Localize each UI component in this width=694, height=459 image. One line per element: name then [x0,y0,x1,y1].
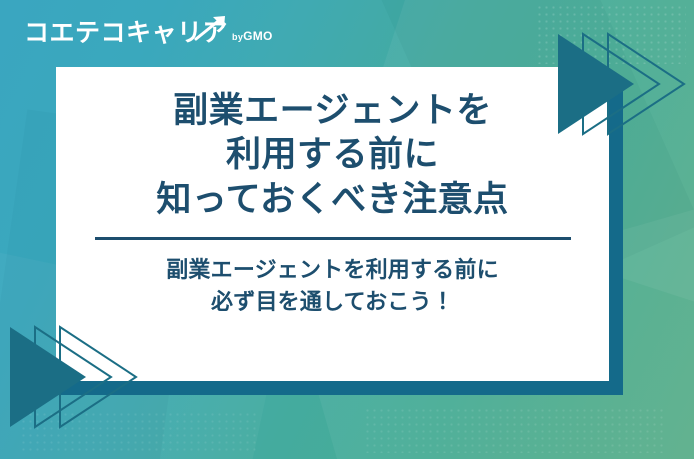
dot-pattern-bottom-right [364,407,664,453]
subtitle-line-1: 副業エージェントを利用する前に [166,255,499,286]
title-line-3: 知っておくべき注意点 [156,178,508,222]
page-subtitle: 副業エージェントを利用する前に 必ず目を通しておこう！ [166,255,499,317]
content-card: 副業エージェントを 利用する前に 知っておくべき注意点 副業エージェントを利用す… [56,67,609,381]
title-line-2: 利用する前に [156,133,508,177]
brand-logo: コエテコキャリア byGMO [24,20,273,45]
decor-triangles-bottom-left [8,321,138,433]
rising-arrow-icon [194,15,228,41]
page-title: 副業エージェントを 利用する前に 知っておくべき注意点 [156,89,508,222]
decor-triangles-top-right [556,28,686,140]
brand-gmo-name: GMO [243,29,273,43]
title-divider [95,237,571,240]
title-line-1: 副業エージェントを [156,89,508,133]
banner-canvas: コエテコキャリア byGMO 副業エージェントを 利用する前に 知っておくべき注… [0,0,694,459]
play-triangle-icon [10,327,86,427]
subtitle-line-2: 必ず目を通しておこう！ [166,287,499,318]
play-triangle-icon [558,34,634,134]
brand-by-prefix: by [232,32,243,42]
brand-logo-by-gmo: byGMO [232,29,273,45]
